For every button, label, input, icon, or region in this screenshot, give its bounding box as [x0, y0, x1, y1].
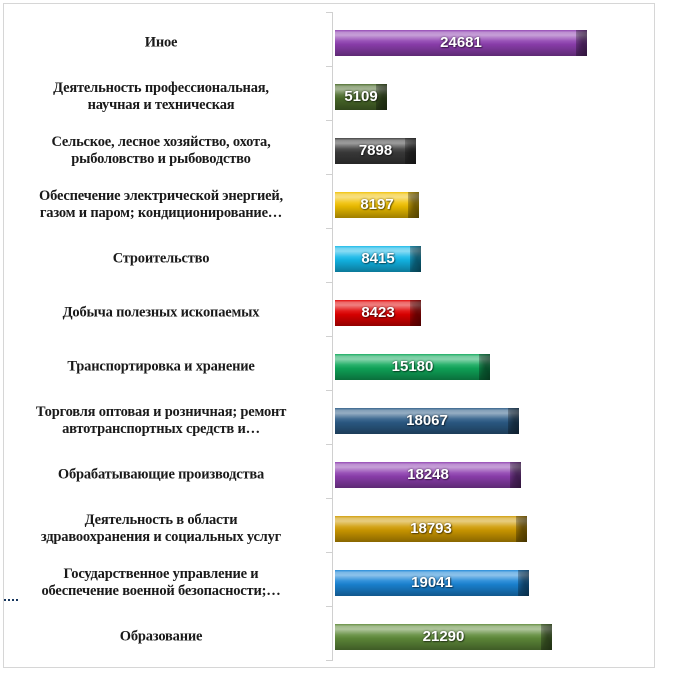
- category-label-line: Добыча полезных ископаемых: [4, 304, 318, 321]
- bar[interactable]: 8197: [335, 192, 419, 218]
- bar[interactable]: 18067: [335, 408, 519, 434]
- category-label-line: Образование: [4, 628, 318, 645]
- category-label: Иное: [4, 34, 326, 51]
- bar-value-label: 19041: [335, 570, 529, 596]
- category-label-line: научная и техническая: [4, 97, 318, 114]
- bar[interactable]: 8423: [335, 300, 421, 326]
- bar[interactable]: 15180: [335, 354, 490, 380]
- category-label: Торговля оптовая и розничная; ремонтавто…: [4, 404, 326, 438]
- category-label-line: рыболовство и рыбоводство: [4, 151, 318, 168]
- bar-wrapper[interactable]: 24681: [335, 30, 587, 56]
- bar-row[interactable]: Транспортировка и хранение15180: [4, 342, 656, 392]
- bar-value-label: 8197: [335, 192, 419, 218]
- bar-wrapper[interactable]: 19041: [335, 570, 529, 596]
- bar-value-label: 24681: [335, 30, 587, 56]
- bar-wrapper[interactable]: 18248: [335, 462, 521, 488]
- category-label: Образование: [4, 628, 326, 645]
- category-label: Деятельность профессиональная,научная и …: [4, 80, 326, 114]
- bar-row[interactable]: Добыча полезных ископаемых8423: [4, 288, 656, 338]
- bar-value-label: 15180: [335, 354, 490, 380]
- chart-frame: Иное24681Деятельность профессиональная,н…: [3, 3, 655, 668]
- category-label: Деятельность в областиздравоохранения и …: [4, 512, 326, 546]
- bar[interactable]: 5109: [335, 84, 387, 110]
- category-label-line: Обеспечение электрической энергией,: [4, 188, 318, 205]
- category-label: Обеспечение электрической энергией,газом…: [4, 188, 326, 222]
- bar-value-label: 18793: [335, 516, 527, 542]
- bar-wrapper[interactable]: 5109: [335, 84, 387, 110]
- bar-row[interactable]: Торговля оптовая и розничная; ремонтавто…: [4, 396, 656, 446]
- category-label: Строительство: [4, 250, 326, 267]
- bar-row[interactable]: Обеспечение электрической энергией,газом…: [4, 180, 656, 230]
- category-label-line: Строительство: [4, 250, 318, 267]
- bar-value-label: 5109: [335, 84, 387, 110]
- category-label: Транспортировка и хранение: [4, 358, 326, 375]
- axis-tick: [326, 12, 333, 13]
- bar-wrapper[interactable]: 7898: [335, 138, 416, 164]
- bar-row[interactable]: Деятельность профессиональная,научная и …: [4, 72, 656, 122]
- bar-value-label: 18248: [335, 462, 521, 488]
- bar[interactable]: 18793: [335, 516, 527, 542]
- chart-plot-area: Иное24681Деятельность профессиональная,н…: [4, 4, 656, 669]
- bar-value-label: 21290: [335, 624, 552, 650]
- category-label-line: Деятельность в области: [4, 512, 318, 529]
- bar[interactable]: 8415: [335, 246, 421, 272]
- bar-wrapper[interactable]: 21290: [335, 624, 552, 650]
- category-label-line: Обрабатывающие производства: [4, 466, 318, 483]
- category-label-line: Деятельность профессиональная,: [4, 80, 318, 97]
- category-label-line: Иное: [4, 34, 318, 51]
- category-label: Добыча полезных ископаемых: [4, 304, 326, 321]
- bar-wrapper[interactable]: 8415: [335, 246, 421, 272]
- bar-value-label: 8423: [335, 300, 421, 326]
- selection-marker: [4, 599, 18, 601]
- category-label-line: обеспечение военной безопасности;…: [4, 583, 318, 600]
- bar-value-label: 8415: [335, 246, 421, 272]
- bar-wrapper[interactable]: 18793: [335, 516, 527, 542]
- bar[interactable]: 21290: [335, 624, 552, 650]
- bar-wrapper[interactable]: 18067: [335, 408, 519, 434]
- category-label-line: автотранспортных средств и…: [4, 421, 318, 438]
- bar-row[interactable]: Обрабатывающие производства18248: [4, 450, 656, 500]
- category-label: Обрабатывающие производства: [4, 466, 326, 483]
- category-label-line: Транспортировка и хранение: [4, 358, 318, 375]
- category-label: Государственное управление иобеспечение …: [4, 566, 326, 600]
- bar-row[interactable]: Государственное управление иобеспечение …: [4, 558, 656, 608]
- bar-wrapper[interactable]: 8197: [335, 192, 419, 218]
- bar-row[interactable]: Деятельность в областиздравоохранения и …: [4, 504, 656, 554]
- bar-row[interactable]: Образование21290: [4, 612, 656, 662]
- bar[interactable]: 19041: [335, 570, 529, 596]
- category-label-line: Сельское, лесное хозяйство, охота,: [4, 134, 318, 151]
- category-label: Сельское, лесное хозяйство, охота,рыболо…: [4, 134, 326, 168]
- bar[interactable]: 7898: [335, 138, 416, 164]
- bar-row[interactable]: Строительство8415: [4, 234, 656, 284]
- bar[interactable]: 18248: [335, 462, 521, 488]
- bar-row[interactable]: Сельское, лесное хозяйство, охота,рыболо…: [4, 126, 656, 176]
- bar-value-label: 18067: [335, 408, 519, 434]
- bar-row[interactable]: Иное24681: [4, 18, 656, 68]
- category-label-line: здравоохранения и социальных услуг: [4, 529, 318, 546]
- bar-wrapper[interactable]: 15180: [335, 354, 490, 380]
- category-label-line: газом и паром; кондиционирование…: [4, 205, 318, 222]
- bar-wrapper[interactable]: 8423: [335, 300, 421, 326]
- category-label-line: Торговля оптовая и розничная; ремонт: [4, 404, 318, 421]
- bar[interactable]: 24681: [335, 30, 587, 56]
- category-label-line: Государственное управление и: [4, 566, 318, 583]
- bar-value-label: 7898: [335, 138, 416, 164]
